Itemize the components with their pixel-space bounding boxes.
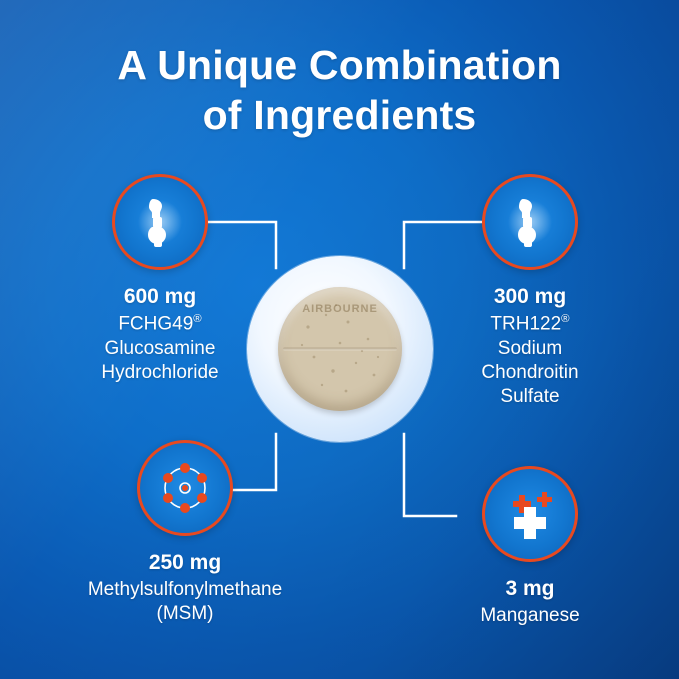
- ingredient-glucosamine[interactable]: 600 mg FCHG49® Glucosamine Hydrochloride: [40, 174, 280, 385]
- ingredient-line-2: Sodium: [498, 338, 562, 359]
- ingredient-dose: 250 mg: [20, 550, 350, 577]
- ingredient-caption: 600 mg FCHG49® Glucosamine Hydrochloride: [40, 284, 280, 385]
- ingredient-dose: 600 mg: [40, 284, 280, 311]
- ingredient-line-1: Manganese: [480, 605, 579, 626]
- medical-cross-icon: [501, 485, 559, 543]
- molecule-icon: [154, 457, 216, 519]
- ingredient-line-2: Glucosamine: [105, 338, 216, 359]
- ingredient-line-1: Methylsulfonylmethane: [88, 579, 282, 600]
- ingredient-badge: [112, 174, 208, 270]
- ingredient-line-3: Hydrochloride: [101, 362, 218, 383]
- ingredient-line-1: FCHG49: [118, 313, 193, 334]
- tablet: AIRBOURNE: [278, 287, 402, 411]
- registered-mark: ®: [561, 313, 569, 325]
- ingredient-badge: [482, 466, 578, 562]
- joint-bone-icon: [501, 193, 559, 251]
- ingredient-caption: 300 mg TRH122® Sodium Chondroitin Sulfat…: [420, 284, 640, 409]
- ingredient-msm[interactable]: 250 mg Methylsulfonylmethane (MSM): [20, 440, 350, 627]
- ingredient-manganese[interactable]: 3 mg Manganese: [420, 466, 640, 628]
- joint-bone-icon: [131, 193, 189, 251]
- ingredient-line-4: Sulfate: [500, 386, 559, 407]
- ingredient-line-1: TRH122: [490, 313, 561, 334]
- ingredient-line-2: (MSM): [157, 603, 214, 624]
- ingredient-caption: 3 mg Manganese: [420, 576, 640, 628]
- ingredient-caption: 250 mg Methylsulfonylmethane (MSM): [20, 550, 350, 627]
- ingredient-dose: 300 mg: [420, 284, 640, 311]
- tablet-speckles: [278, 287, 402, 411]
- ingredient-line-3: Chondroitin: [481, 362, 578, 383]
- ingredient-dose: 3 mg: [420, 576, 640, 603]
- registered-mark: ®: [193, 313, 201, 325]
- ingredient-chondroitin[interactable]: 300 mg TRH122® Sodium Chondroitin Sulfat…: [420, 174, 640, 409]
- ingredient-badge: [137, 440, 233, 536]
- ingredient-badge: [482, 174, 578, 270]
